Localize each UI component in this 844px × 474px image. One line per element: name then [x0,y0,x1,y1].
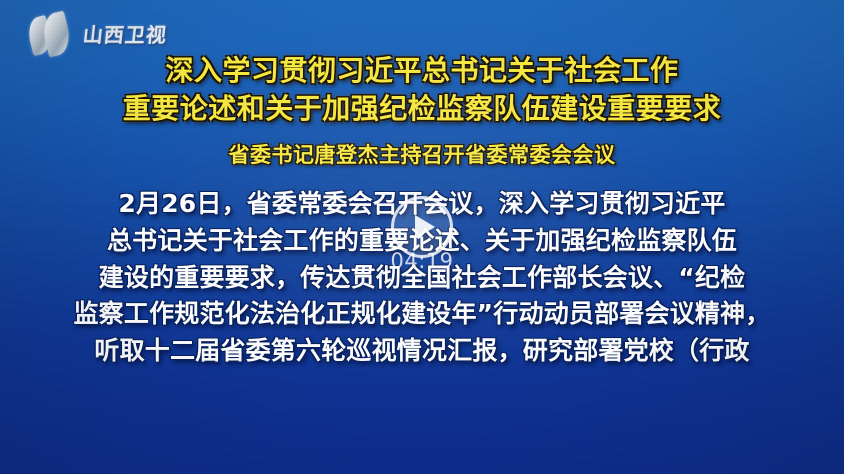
headline-line-1: 深入学习贯彻习近平总书记关于社会工作 [0,52,844,90]
channel-logo-text: 山西卫视 [81,19,168,50]
shanxi-tv-leaf-mark-icon [27,11,79,57]
channel-logo: 山西卫视 [27,10,207,58]
video-timestamp: 04:19 [0,249,844,273]
subtitle: 省委书记唐登杰主持召开省委常委会会议 [0,139,844,169]
headline-line-2: 重要论述和关于加强纪检监察队伍建设重要要求 [0,90,844,128]
play-triangle-icon [415,215,435,239]
body-line-4: 监察工作规范化法治化正规化建设年”行动动员部署会议精神， [0,296,844,333]
body-line-5: 听取十二届省委第六轮巡视情况汇报，研究部署党校（行政 [0,333,844,370]
headline: 深入学习贯彻习近平总书记关于社会工作 重要论述和关于加强纪检监察队伍建设重要要求 [0,52,844,128]
video-frame[interactable]: 山西卫视 深入学习贯彻习近平总书记关于社会工作 重要论述和关于加强纪检监察队伍建… [0,0,844,474]
